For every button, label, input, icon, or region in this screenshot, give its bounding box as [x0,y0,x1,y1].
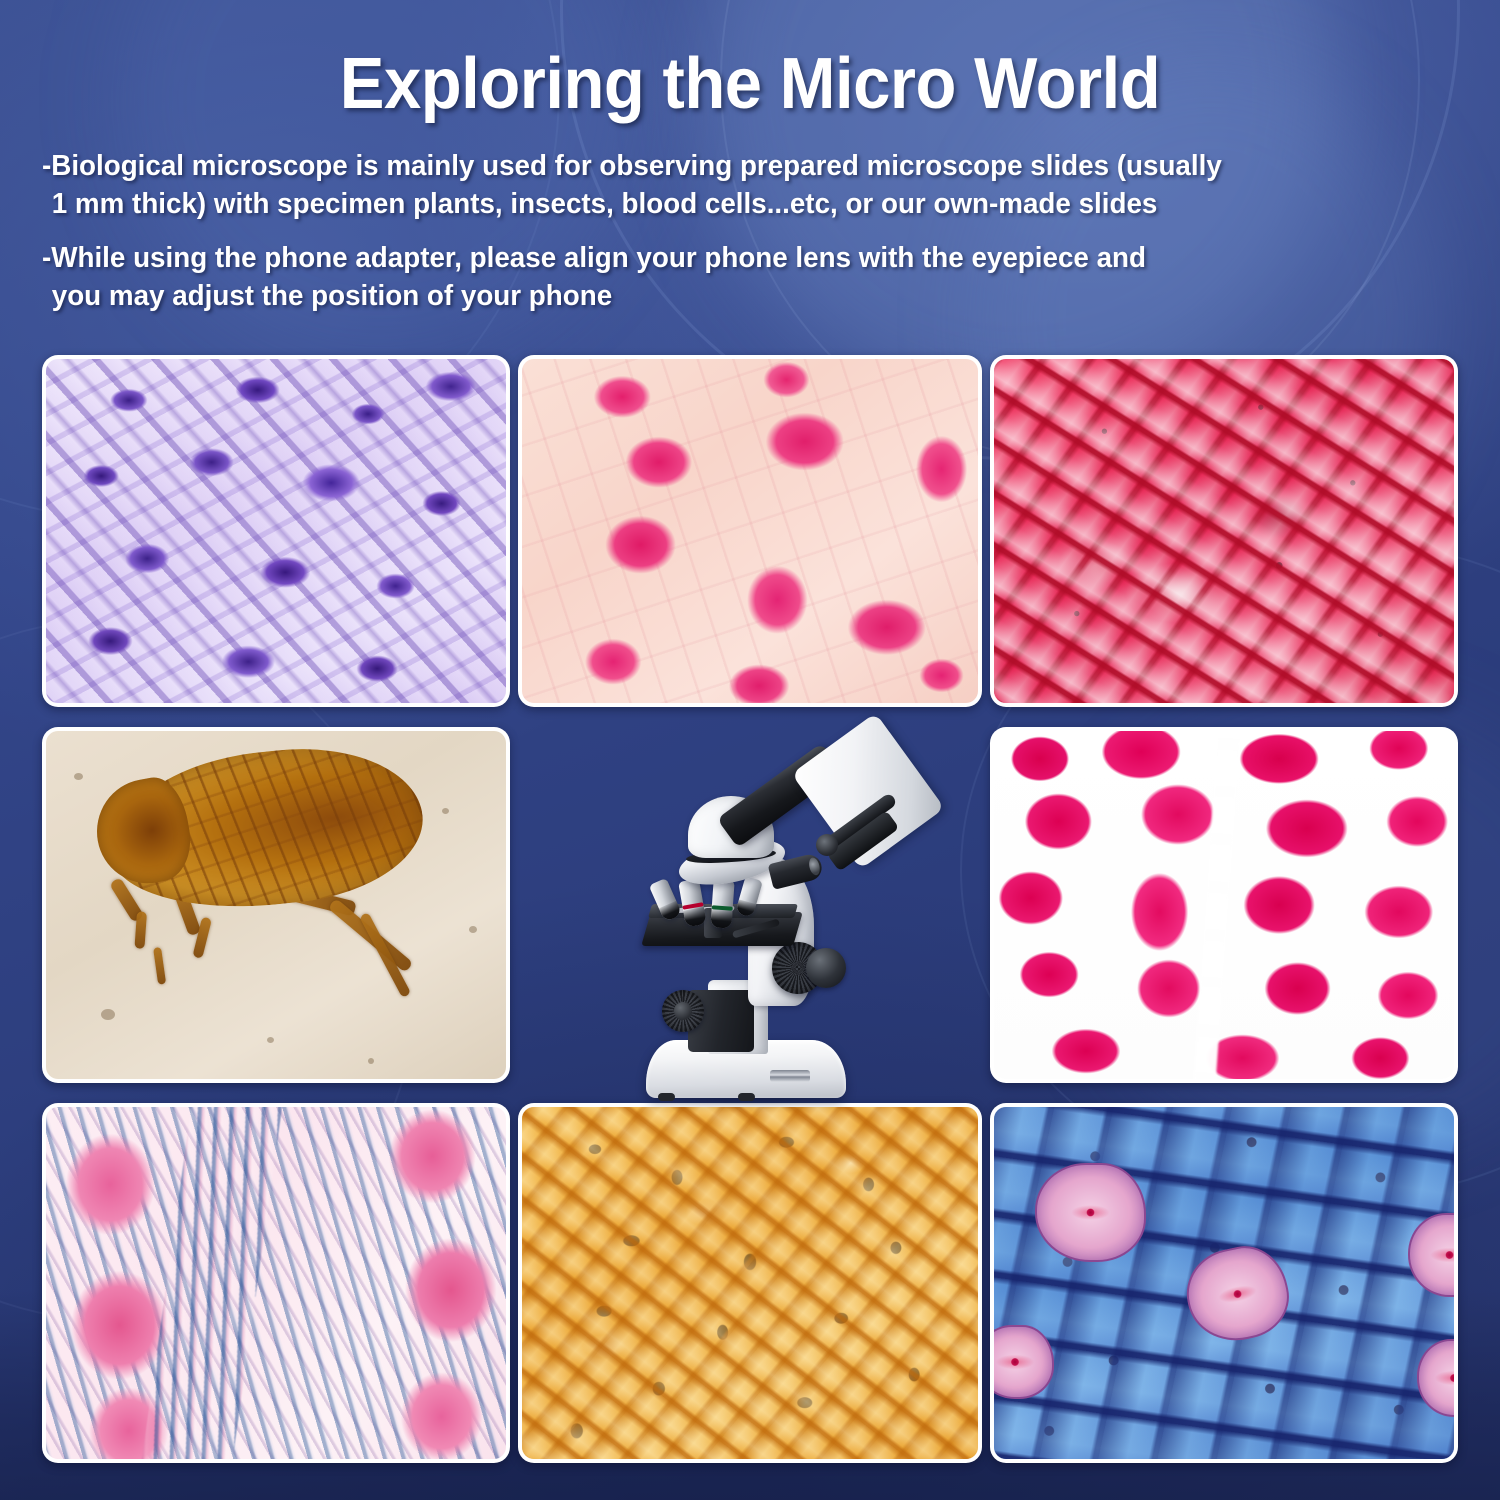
specimen-photo [522,359,978,703]
dividing-cell [1417,1339,1454,1416]
illumination-knob[interactable] [662,990,704,1032]
specimen-photo [46,731,506,1079]
nerve-fiber-band [136,1107,286,1459]
specimen-card-nerve-tissue [42,1103,510,1463]
plant-cells-texture [522,1107,978,1459]
flea-leg [135,911,148,948]
purple-tissue-texture [46,359,506,703]
specimen-card-purple-tissue [42,355,510,707]
specimen-photo [994,359,1454,703]
specimen-photo [46,1107,506,1459]
specimen-photo [994,1107,1454,1459]
red-epidermis-texture [994,359,1454,703]
specimen-photo [994,731,1454,1079]
nerve-tissue-texture [46,1107,506,1459]
muscle-septum [1192,731,1241,1079]
phone-adapter-lens-ring [816,834,838,856]
specimen-card-plant-cells [518,1103,982,1463]
onion-epidermis-texture [994,1107,1454,1459]
specimen-card-mitosis-cells [518,355,982,707]
flea-background-texture [46,731,506,1079]
dividing-cell [1035,1163,1145,1262]
dividing-cell [994,1325,1054,1399]
objective-lens[interactable] [710,879,734,928]
muscle-fibers-texture [994,731,1454,1079]
specimen-card-onion-epidermis [990,1103,1458,1463]
specimen-photo [46,359,506,703]
microscope-illustration [620,718,960,1098]
base-foot [738,1093,755,1101]
mitosis-cells-texture [522,359,978,703]
dividing-cell [1179,1238,1297,1349]
specimen-card-muscle-fibers [990,727,1458,1083]
dividing-cell [1408,1213,1454,1297]
base-vent-slot [770,1070,810,1082]
base-foot [658,1093,675,1101]
specimen-card-red-epidermis [990,355,1458,707]
specimen-photo [522,1107,978,1459]
flea-leg [153,947,166,985]
specimen-card-flea-insect [42,727,510,1083]
product-infographic: Exploring the Micro World -Biological mi… [0,0,1500,1500]
fine-focus-knob[interactable] [806,948,846,988]
